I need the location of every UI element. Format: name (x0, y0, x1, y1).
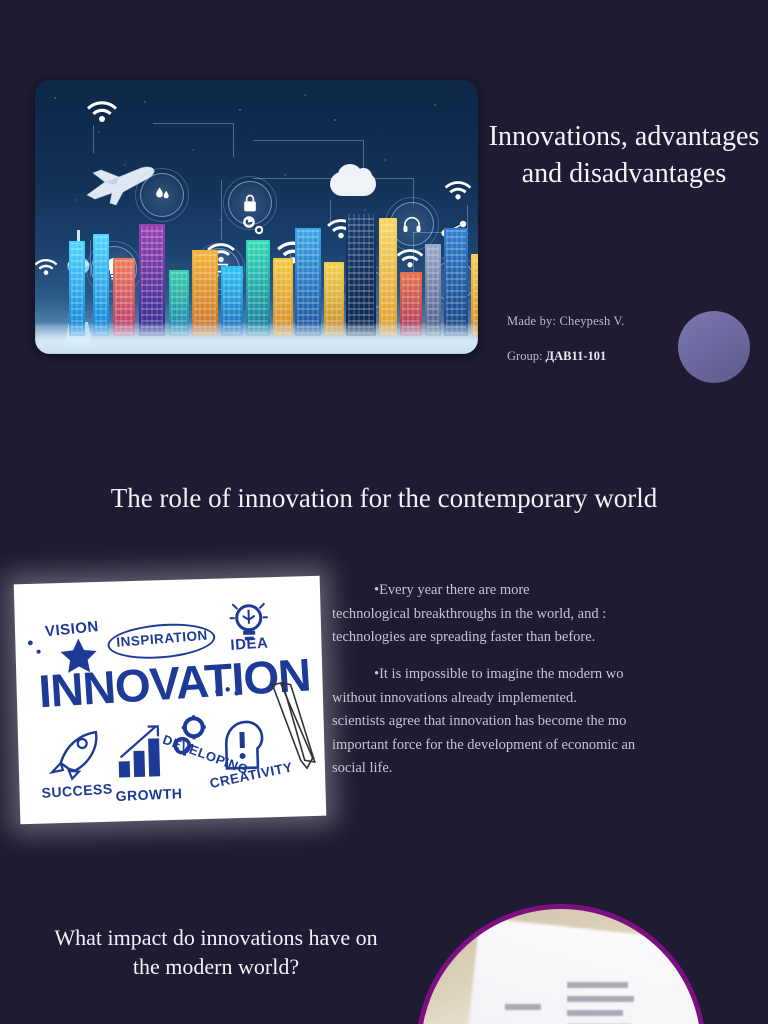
city-base-glow (35, 324, 478, 354)
group-value: ДАВ11-101 (546, 349, 607, 363)
dots-decoration (25, 637, 50, 660)
wifi-icon (443, 180, 473, 203)
paragraph-1-line-3: technologies are spreading faster than b… (332, 629, 595, 645)
slide-title: Innovations, advantages and disadvantage… (0, 0, 768, 432)
book-text-line (567, 1010, 623, 1016)
dots-decoration (213, 686, 243, 703)
connector-line (253, 140, 363, 141)
paragraph-2-line-4: important force for the development of e… (332, 737, 635, 753)
paragraph-1: •Every year there are more technological… (332, 579, 762, 650)
smart-city-iot-illustration (35, 80, 478, 354)
made-by-label: Made by: (507, 314, 556, 328)
paragraph-2-line-1: •It is impossible to imagine the modern … (374, 666, 624, 682)
connector-line (363, 140, 364, 170)
connector-line (233, 123, 234, 157)
connector-line (93, 125, 94, 153)
bar-chart-icon (114, 724, 174, 782)
innovation-whiteboard-sketch: VISION INSPIRATION IDEA INNOVATION (14, 576, 327, 824)
city-skyline (35, 209, 478, 354)
made-by-value: Cheypesh V. (560, 314, 625, 328)
book-text-line (505, 1004, 541, 1010)
paragraph-2-line-3: scientists agree that innovation has bec… (332, 713, 626, 729)
paragraph-1-line-2: technological breakthroughs in the world… (332, 606, 606, 622)
cloud-icon (355, 168, 372, 185)
decorative-circle (678, 311, 750, 383)
slide-title-text: Innovations, advantages and disadvantage… (480, 118, 768, 192)
sketch-word-success: SUCCESS (41, 780, 113, 800)
paragraph-2: •It is impossible to imagine the modern … (332, 663, 762, 781)
presentation-page: Innovations, advantages and disadvantage… (0, 0, 768, 1024)
wifi-icon (85, 100, 119, 126)
rocket-icon (46, 724, 110, 782)
paragraph-2-line-5: social life. (332, 760, 392, 776)
book-text-line (567, 996, 634, 1002)
slide3-title-text: What impact do innovations have on the m… (46, 923, 386, 981)
slide-role-of-innovation: The role of innovation for the contempor… (0, 432, 768, 892)
paragraph-1-line-1: •Every year there are more (374, 582, 530, 598)
pencils-icon (265, 680, 327, 778)
paragraph-2-line-2: without innovations already implemented. (332, 690, 577, 706)
connector-line (153, 123, 233, 124)
sketch-word-growth: GROWTH (115, 785, 182, 804)
group-label: Group: (507, 349, 542, 363)
slide2-title-text: The role of innovation for the contempor… (44, 480, 724, 516)
book-text-line (567, 982, 629, 988)
slide2-body: •Every year there are more technological… (332, 579, 762, 794)
